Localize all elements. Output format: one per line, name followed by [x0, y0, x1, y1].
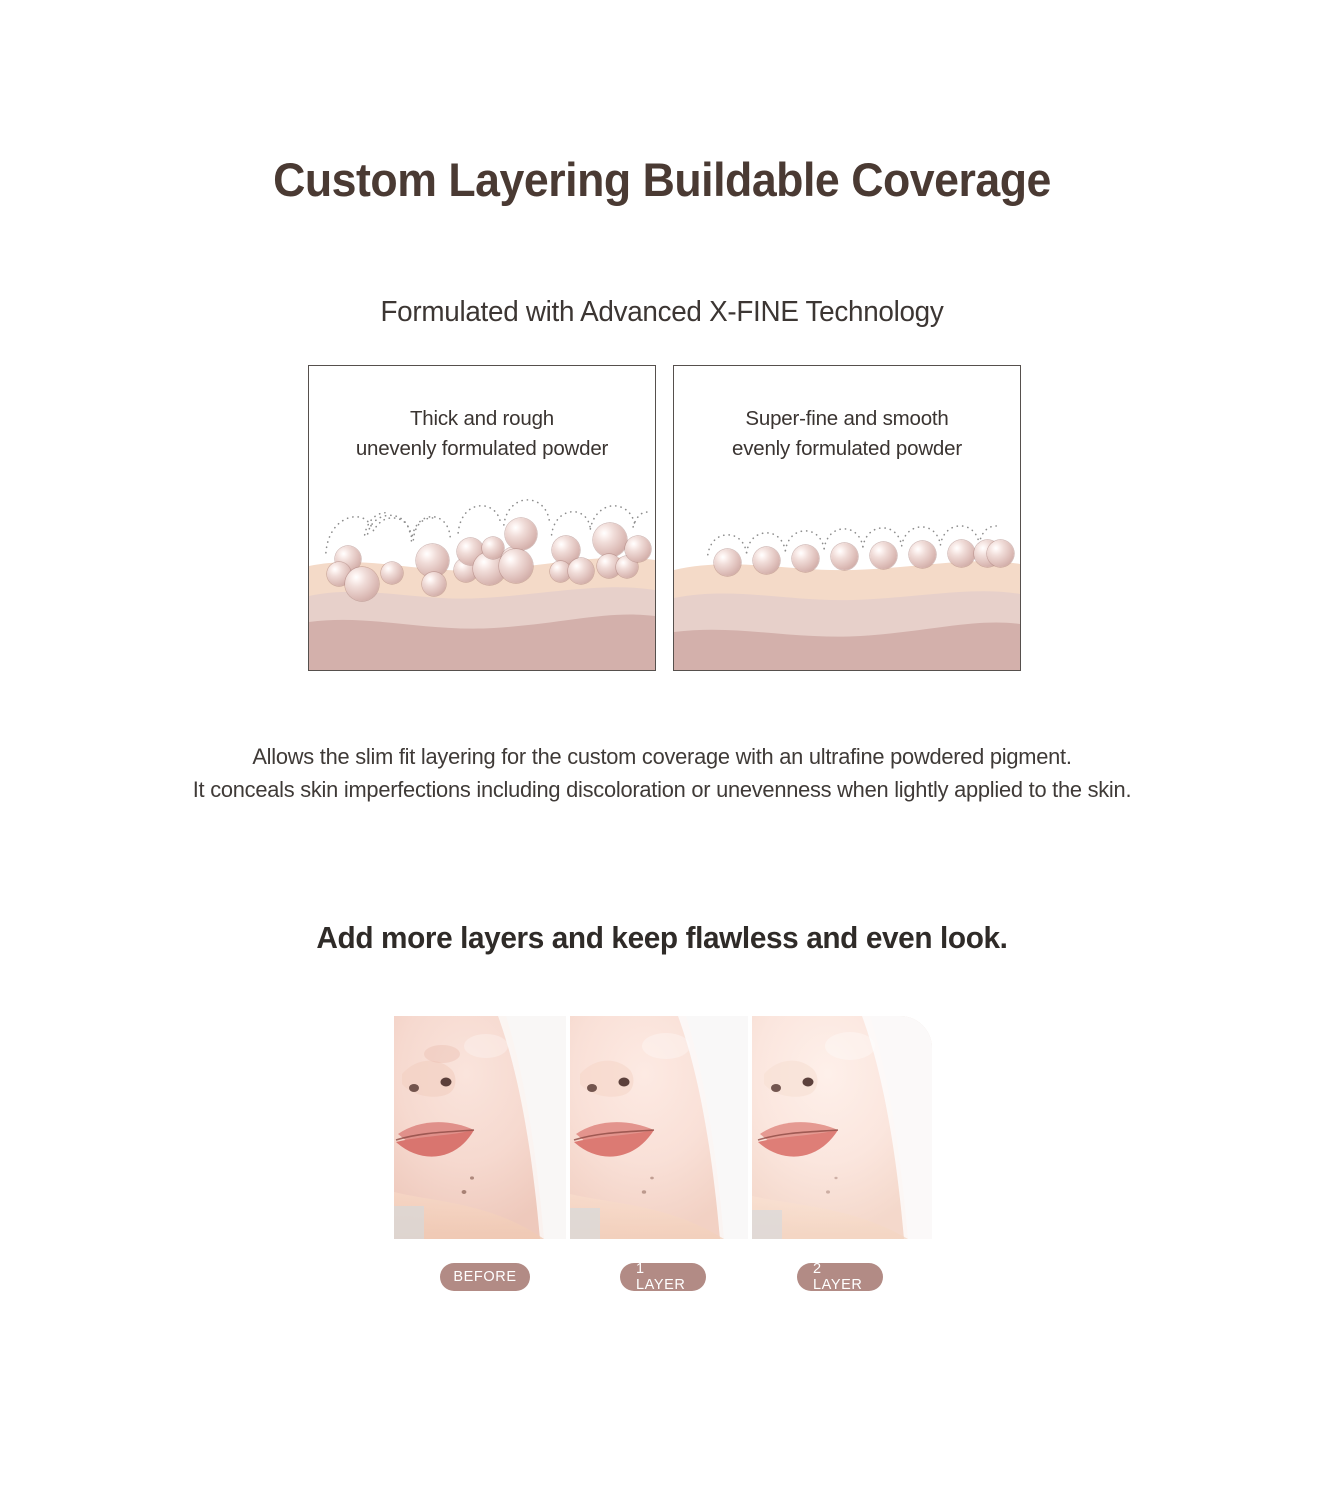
label-before-text: BEFORE — [453, 1269, 516, 1285]
label-before: BEFORE — [440, 1263, 530, 1291]
panel-super-fine: Super-fine and smooth evenly formulated … — [673, 365, 1021, 671]
powder-bead — [753, 547, 780, 574]
powder-comparison-diagram: Thick and rough unevenly formulated powd… — [308, 365, 1018, 671]
caption-line-2: unevenly formulated powder — [309, 434, 655, 464]
powder-bead — [568, 558, 594, 584]
page-title: Custom Layering Buildable Coverage — [33, 152, 1291, 207]
photo-one-layer — [570, 1016, 748, 1239]
powder-bead — [792, 545, 819, 572]
panel-caption-thick-rough: Thick and rough unevenly formulated powd… — [309, 404, 655, 464]
powder-bead — [505, 518, 537, 550]
description-line-1: Allows the slim fit layering for the cus… — [20, 740, 1304, 773]
caption-line-2: evenly formulated powder — [674, 434, 1020, 464]
powder-bead — [870, 542, 897, 569]
powder-bead — [381, 562, 403, 584]
caption-line-1: Thick and rough — [309, 404, 655, 434]
label-two-layer-text: 2 LAYER — [813, 1261, 867, 1293]
powder-bead — [345, 567, 379, 601]
powder-bead — [593, 523, 627, 557]
powder-bead — [625, 536, 651, 562]
description-text: Allows the slim fit layering for the cus… — [20, 740, 1304, 806]
powder-bead — [909, 541, 936, 568]
product-detail-page: Custom Layering Buildable Coverage Formu… — [0, 0, 1324, 1500]
powder-bead — [948, 540, 975, 567]
powder-bead — [831, 543, 858, 570]
panel-thick-rough: Thick and rough unevenly formulated powd… — [308, 365, 656, 671]
label-one-layer: 1 LAYER — [620, 1263, 706, 1291]
description-line-2: It conceals skin imperfections including… — [20, 773, 1304, 806]
page-subtitle: Formulated with Advanced X-FINE Technolo… — [26, 296, 1297, 329]
photo-before — [394, 1016, 566, 1239]
label-one-layer-text: 1 LAYER — [636, 1261, 690, 1293]
caption-line-1: Super-fine and smooth — [674, 404, 1020, 434]
powder-bead — [422, 572, 446, 596]
label-two-layer: 2 LAYER — [797, 1263, 883, 1291]
panel-caption-super-fine: Super-fine and smooth evenly formulated … — [674, 404, 1020, 464]
powder-bead — [499, 549, 533, 583]
powder-bead — [987, 540, 1014, 567]
before-after-photo-strip — [394, 1016, 932, 1239]
layering-heading: Add more layers and keep flawless and ev… — [26, 920, 1297, 956]
powder-bead — [714, 549, 741, 576]
photo-two-layer — [752, 1016, 932, 1239]
